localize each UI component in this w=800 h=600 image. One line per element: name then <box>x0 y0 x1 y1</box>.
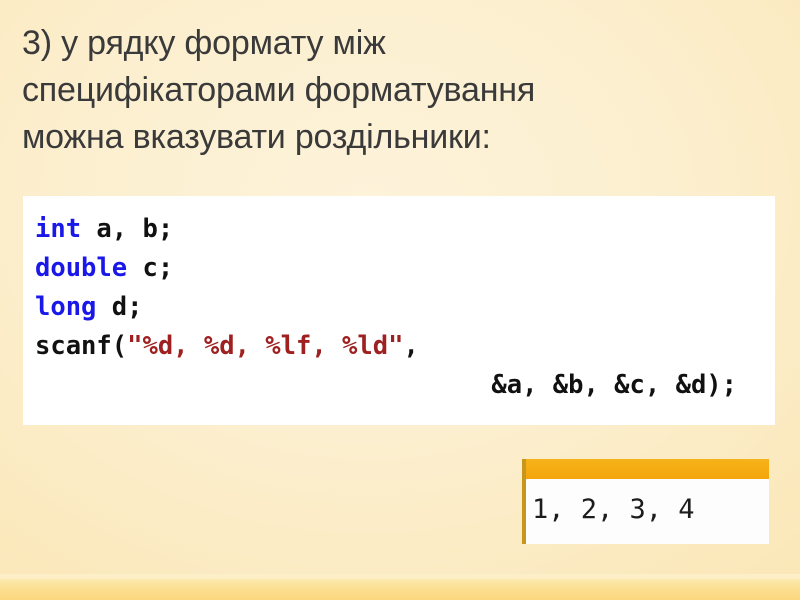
code-line: long d; <box>35 288 759 327</box>
code-function-call: scanf( <box>35 331 127 361</box>
code-line: &a, &b, &c, &d); <box>35 366 759 405</box>
output-window-body: 1, 2, 3, 4 <box>526 479 769 540</box>
code-text: d; <box>96 292 142 322</box>
code-text: , <box>403 331 418 361</box>
code-line: double c; <box>35 249 759 288</box>
code-text: c; <box>127 253 173 283</box>
code-arguments: &a, &b, &c, &d); <box>491 370 737 400</box>
code-keyword: long <box>35 292 96 322</box>
slide-canvas: 3) у рядку формату між специфікаторами ф… <box>0 0 800 600</box>
code-keyword: int <box>35 214 81 244</box>
output-window-titlebar <box>526 459 769 479</box>
code-line: int a, b; <box>35 210 759 249</box>
code-block: int a, b; double c; long d; scanf("%d, %… <box>23 196 775 425</box>
code-text: a, b; <box>81 214 173 244</box>
page-title: 3) у рядку формату між специфікаторами ф… <box>22 20 722 161</box>
code-keyword: double <box>35 253 127 283</box>
code-string-literal: "%d, %d, %lf, %ld" <box>127 331 403 361</box>
code-line: scanf("%d, %d, %lf, %ld", <box>35 327 759 366</box>
program-output-window: 1, 2, 3, 4 <box>522 459 769 544</box>
output-text: 1, 2, 3, 4 <box>532 494 695 525</box>
slide-bottom-band <box>0 574 800 600</box>
